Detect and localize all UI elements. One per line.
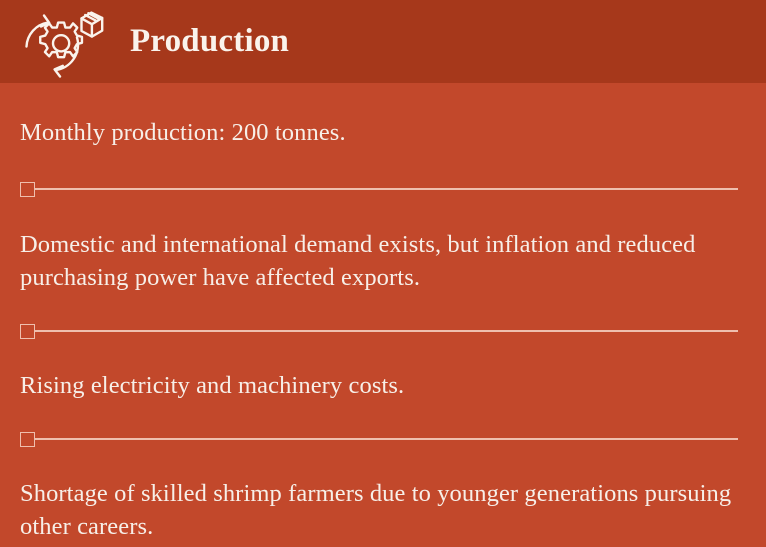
divider-line bbox=[35, 330, 738, 332]
divider-line bbox=[35, 438, 738, 440]
production-card: Production Monthly production: 200 tonne… bbox=[0, 0, 766, 547]
section-divider-1 bbox=[20, 181, 738, 197]
divider-line bbox=[35, 188, 738, 190]
gear-box-production-icon bbox=[18, 6, 104, 78]
card-body: Monthly production: 200 tonnes. Domestic… bbox=[0, 83, 766, 547]
production-statement-4: Shortage of skilled shrimp farmers due t… bbox=[20, 447, 745, 543]
square-outline-marker-icon bbox=[20, 432, 35, 447]
production-statement-3: Rising electricity and machinery costs. bbox=[20, 339, 745, 402]
production-statement-2: Domestic and international demand exists… bbox=[20, 197, 745, 294]
square-outline-marker-icon bbox=[20, 182, 35, 197]
page-title: Production bbox=[130, 25, 289, 58]
section-divider-3 bbox=[20, 431, 738, 447]
section-divider-2 bbox=[20, 323, 738, 339]
card-header: Production bbox=[0, 0, 766, 83]
square-outline-marker-icon bbox=[20, 324, 35, 339]
production-statement-1: Monthly production: 200 tonnes. bbox=[20, 83, 745, 149]
